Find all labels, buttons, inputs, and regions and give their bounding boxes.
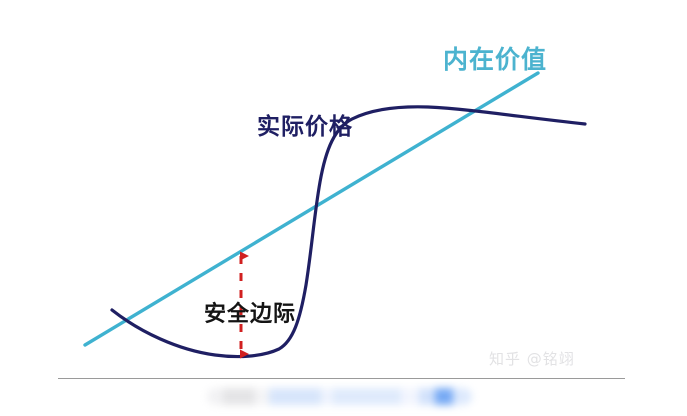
redacted-block xyxy=(207,388,223,405)
redacted-block xyxy=(419,388,435,405)
redacted-block xyxy=(255,388,269,405)
redacted-block xyxy=(223,388,255,405)
redacted-block xyxy=(401,388,419,405)
bottom-divider xyxy=(58,378,625,379)
diagram-svg xyxy=(0,0,687,416)
redacted-block xyxy=(321,388,333,405)
redacted-block xyxy=(453,388,472,405)
blurred-caption-bar xyxy=(207,388,472,405)
actual-price-label: 实际价格 xyxy=(257,107,353,141)
redacted-block xyxy=(435,388,453,405)
diagram-canvas: 内在价值 实际价格 安全边际 知乎 @铭翊 xyxy=(0,0,687,416)
zhihu-watermark: 知乎 @铭翊 xyxy=(489,348,575,369)
margin-of-safety-label: 安全边际 xyxy=(204,296,296,328)
intrinsic-value-label: 内在价值 xyxy=(443,40,547,76)
redacted-block xyxy=(333,388,401,405)
redacted-block xyxy=(269,388,321,405)
actual-price-curve xyxy=(112,107,585,357)
